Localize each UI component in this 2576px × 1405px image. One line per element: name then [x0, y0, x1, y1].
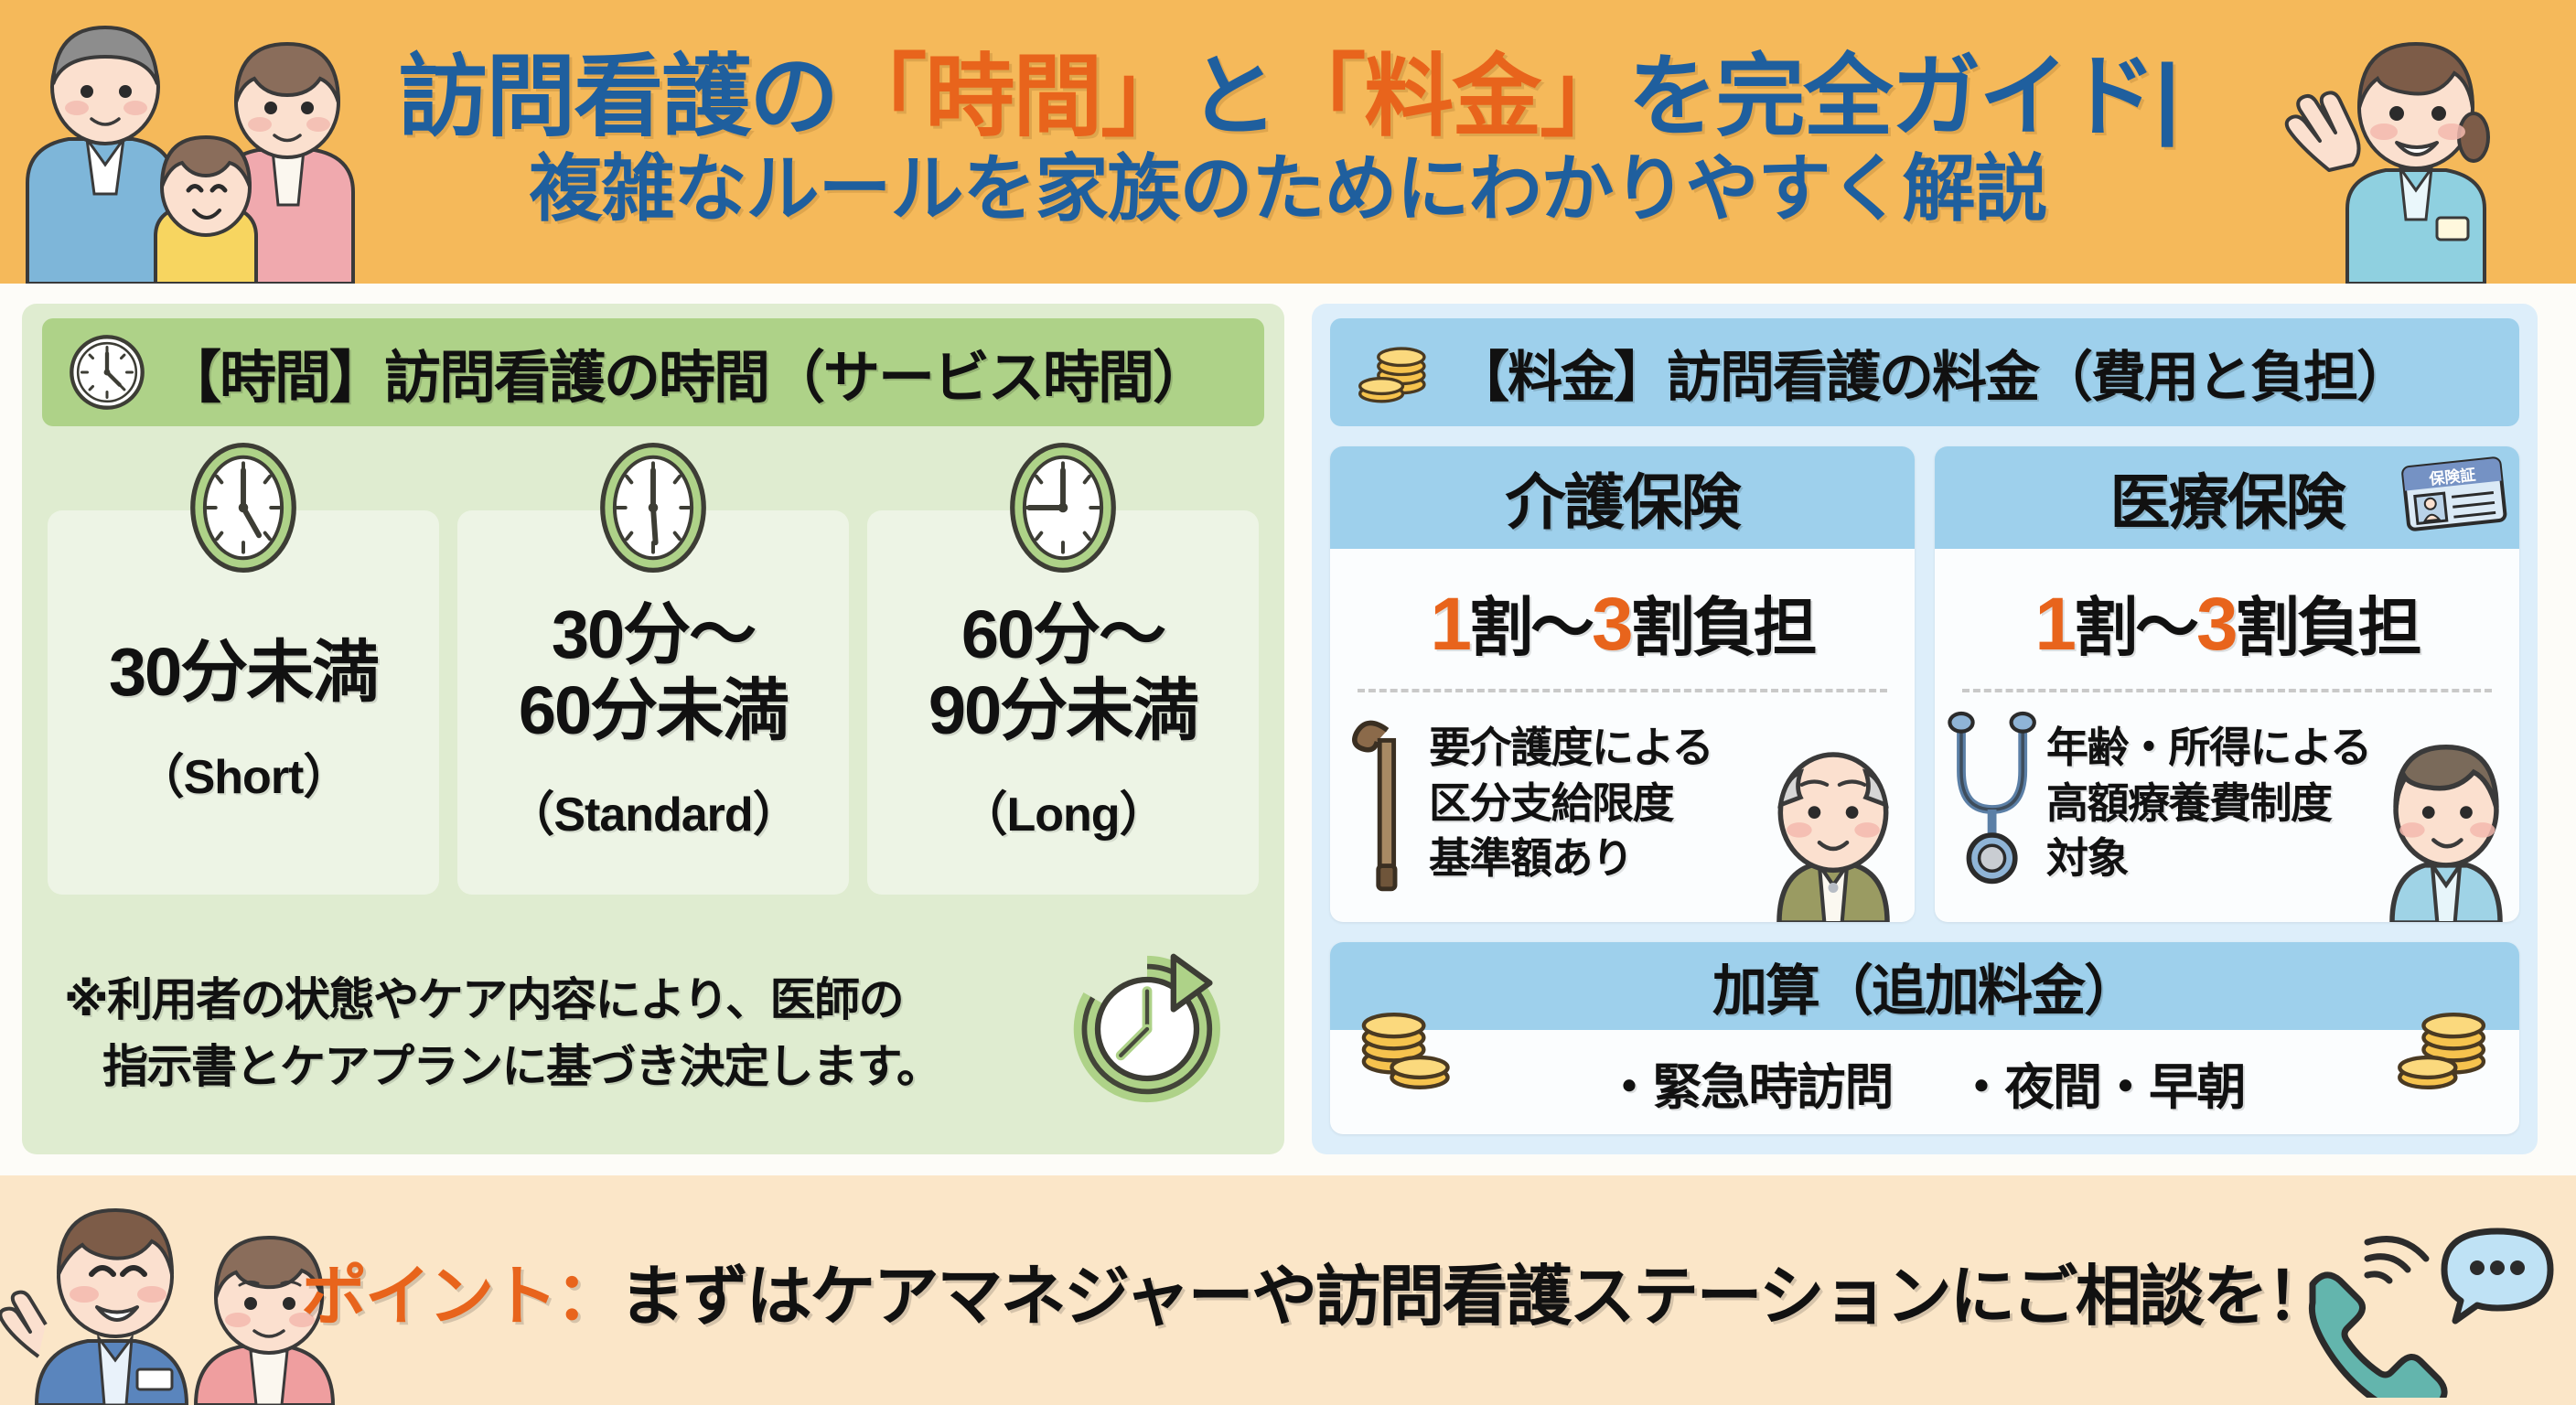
time-card-short[interactable]: 30分未満 （Short） — [48, 510, 439, 895]
desc-line2: 区分支給限度 — [1429, 779, 1673, 827]
burden-mid: 割～ — [2074, 592, 2196, 663]
clock-icon — [183, 439, 304, 581]
phone-ringing-icon — [2312, 1239, 2444, 1398]
insurance-card-header: 医療保険 保険証 — [1935, 446, 2519, 549]
burden-rate: 1割～3割負担 — [1935, 576, 2519, 669]
footer-point-label: ポイント： — [301, 1260, 619, 1334]
insurance-card-body: 要介護度による 区分支給限度 基準額あり — [1330, 692, 1915, 899]
title-accent-fee: 「料金」 — [1276, 46, 1627, 146]
insurance-card-icon: 保険証 — [2395, 454, 2514, 538]
time-card-main-line2: 60分未満 — [519, 672, 788, 748]
kasan-item-emergency: ・緊急時訪問 — [1605, 1046, 1893, 1119]
kasan-card[interactable]: 加算（追加料金） ・緊急時訪問 ・夜間・早朝 — [1330, 942, 2519, 1134]
insurance-card-body: 年齢・所得による 高額療養費制度 対象 — [1935, 692, 2519, 899]
burden-rate: 1割～3割負担 — [1330, 576, 1915, 669]
family-illustration — [0, 0, 384, 284]
nurse-illustration — [2210, 0, 2576, 284]
time-card-standard[interactable]: 30分～ 60分未満 （Standard） — [457, 510, 849, 895]
time-panel-header: 【時間】訪問看護の時間（サービス時間） — [42, 318, 1264, 426]
time-panel: 【時間】訪問看護の時間（サービス時間） — [22, 304, 1284, 1154]
elderly-man-illustration — [1746, 735, 1915, 922]
title-accent-time: 「時間」 — [837, 46, 1188, 146]
time-cards-row: 30分未満 （Short） — [42, 510, 1264, 895]
insurance-card-description: 年齢・所得による 高額療養費制度 対象 — [2039, 720, 2371, 886]
burden-tail: 割負担 — [1631, 592, 1815, 663]
time-note-line2: 指示書とケアプランに基づき決定します。 — [64, 1034, 1098, 1100]
desc-line1: 要介護度による — [1429, 724, 1712, 771]
kasan-title: 加算（追加料金） — [1712, 947, 2137, 1026]
burden-mid: 割～ — [1469, 592, 1592, 663]
time-card-sub: （Standard） — [507, 776, 799, 844]
clock-icon — [68, 333, 146, 412]
clock-icon — [593, 439, 714, 581]
fee-panel-title: 【料金】訪問看護の料金（費用と負担） — [1454, 333, 2410, 413]
time-note-line1: ※利用者の状態やケア内容により、医師の — [64, 974, 903, 1025]
time-card-sub: （Long） — [960, 776, 1165, 844]
insurance-card-title: 介護保険 — [1506, 454, 1740, 542]
footer-message: ポイント：まずはケアマネジャーや訪問看護ステーションにご相談を！ — [301, 1242, 2330, 1338]
title-mid: と — [1188, 46, 1276, 146]
coins-icon — [1354, 333, 1438, 412]
burden-max: 3 — [2196, 583, 2236, 666]
coins-icon — [2386, 992, 2495, 1099]
burden-min: 1 — [2034, 583, 2074, 666]
time-card-main-line1: 60分～ — [961, 596, 1165, 672]
speech-bubble-icon — [2444, 1231, 2550, 1321]
time-card-main-line2: 90分未満 — [928, 672, 1197, 748]
header-title-block: 訪問看護の「時間」と「料金」を完全ガイド| 複雑なルールを家族のためにわかりやす… — [398, 48, 2177, 230]
insurance-card-title: 医療保険 — [2110, 454, 2345, 542]
insurance-cards-row: 介護保険 1割～3割負担 要介護度による 区分支給限度 基準額あり — [1330, 446, 2519, 922]
time-card-main: 60分～ 90分未満 — [928, 597, 1197, 749]
time-note: ※利用者の状態やケア内容により、医師の 指示書とケアプランに基づき決定します。 — [64, 967, 1098, 1099]
desc-line1: 年齢・所得による — [2046, 724, 2371, 771]
time-card-main: 30分未満 — [109, 635, 378, 711]
title-part1: 訪問看護の — [398, 46, 837, 146]
desc-line3: 基準額あり — [1429, 834, 1633, 882]
burden-min: 1 — [1430, 583, 1469, 666]
insurance-card-header: 介護保険 — [1330, 446, 1915, 549]
clock-refresh-icon — [1065, 947, 1229, 1116]
insurance-card-kaigo[interactable]: 介護保険 1割～3割負担 要介護度による 区分支給限度 基準額あり — [1330, 446, 1915, 922]
stethoscope-icon — [1948, 707, 2039, 899]
nurse-illustration — [2364, 735, 2519, 922]
time-card-sub: （Short） — [137, 738, 350, 807]
time-panel-title: 【時間】訪問看護の時間（サービス時間） — [165, 331, 1207, 413]
main-content: 【時間】訪問看護の時間（サービス時間） — [0, 284, 2576, 1175]
fee-panel: 【料金】訪問看護の料金（費用と負担） 介護保険 1割～3割負担 — [1312, 304, 2538, 1154]
title-part2: を完全ガイド| — [1627, 46, 2177, 146]
cane-icon — [1343, 707, 1422, 899]
page-footer: ポイント：まずはケアマネジャーや訪問看護ステーションにご相談を！ — [0, 1175, 2576, 1405]
time-card-long[interactable]: 60分～ 90分未満 （Long） — [867, 510, 1259, 895]
insurance-card-description: 要介護度による 区分支給限度 基準額あり — [1422, 720, 1712, 886]
page-subtitle: 複雑なルールを家族のためにわかりやすく解説 — [398, 149, 2177, 230]
desc-line3: 対象 — [2046, 834, 2128, 882]
time-card-main-line1: 30分～ — [552, 596, 755, 672]
footer-message-text: まずはケアマネジャーや訪問看護ステーションにご相談を！ — [619, 1260, 2330, 1334]
fee-panel-header: 【料金】訪問看護の料金（費用と負担） — [1330, 318, 2519, 426]
kasan-items: ・緊急時訪問 ・夜間・早朝 — [1330, 1030, 2519, 1134]
kasan-header: 加算（追加料金） — [1330, 942, 2519, 1030]
page-header: 訪問看護の「時間」と「料金」を完全ガイド| 複雑なルールを家族のためにわかりやす… — [0, 0, 2576, 284]
insurance-card-iryo[interactable]: 医療保険 保険証 — [1935, 446, 2519, 922]
time-card-main: 30分～ 60分未満 — [519, 597, 788, 749]
clock-icon — [1003, 439, 1123, 581]
burden-max: 3 — [1592, 583, 1631, 666]
kasan-item-night: ・夜間・早朝 — [1957, 1046, 2245, 1119]
coins-icon — [1354, 992, 1464, 1099]
burden-tail: 割負担 — [2236, 592, 2420, 663]
page-title: 訪問看護の「時間」と「料金」を完全ガイド| — [398, 48, 2177, 145]
desc-line2: 高額療養費制度 — [2046, 779, 2332, 827]
